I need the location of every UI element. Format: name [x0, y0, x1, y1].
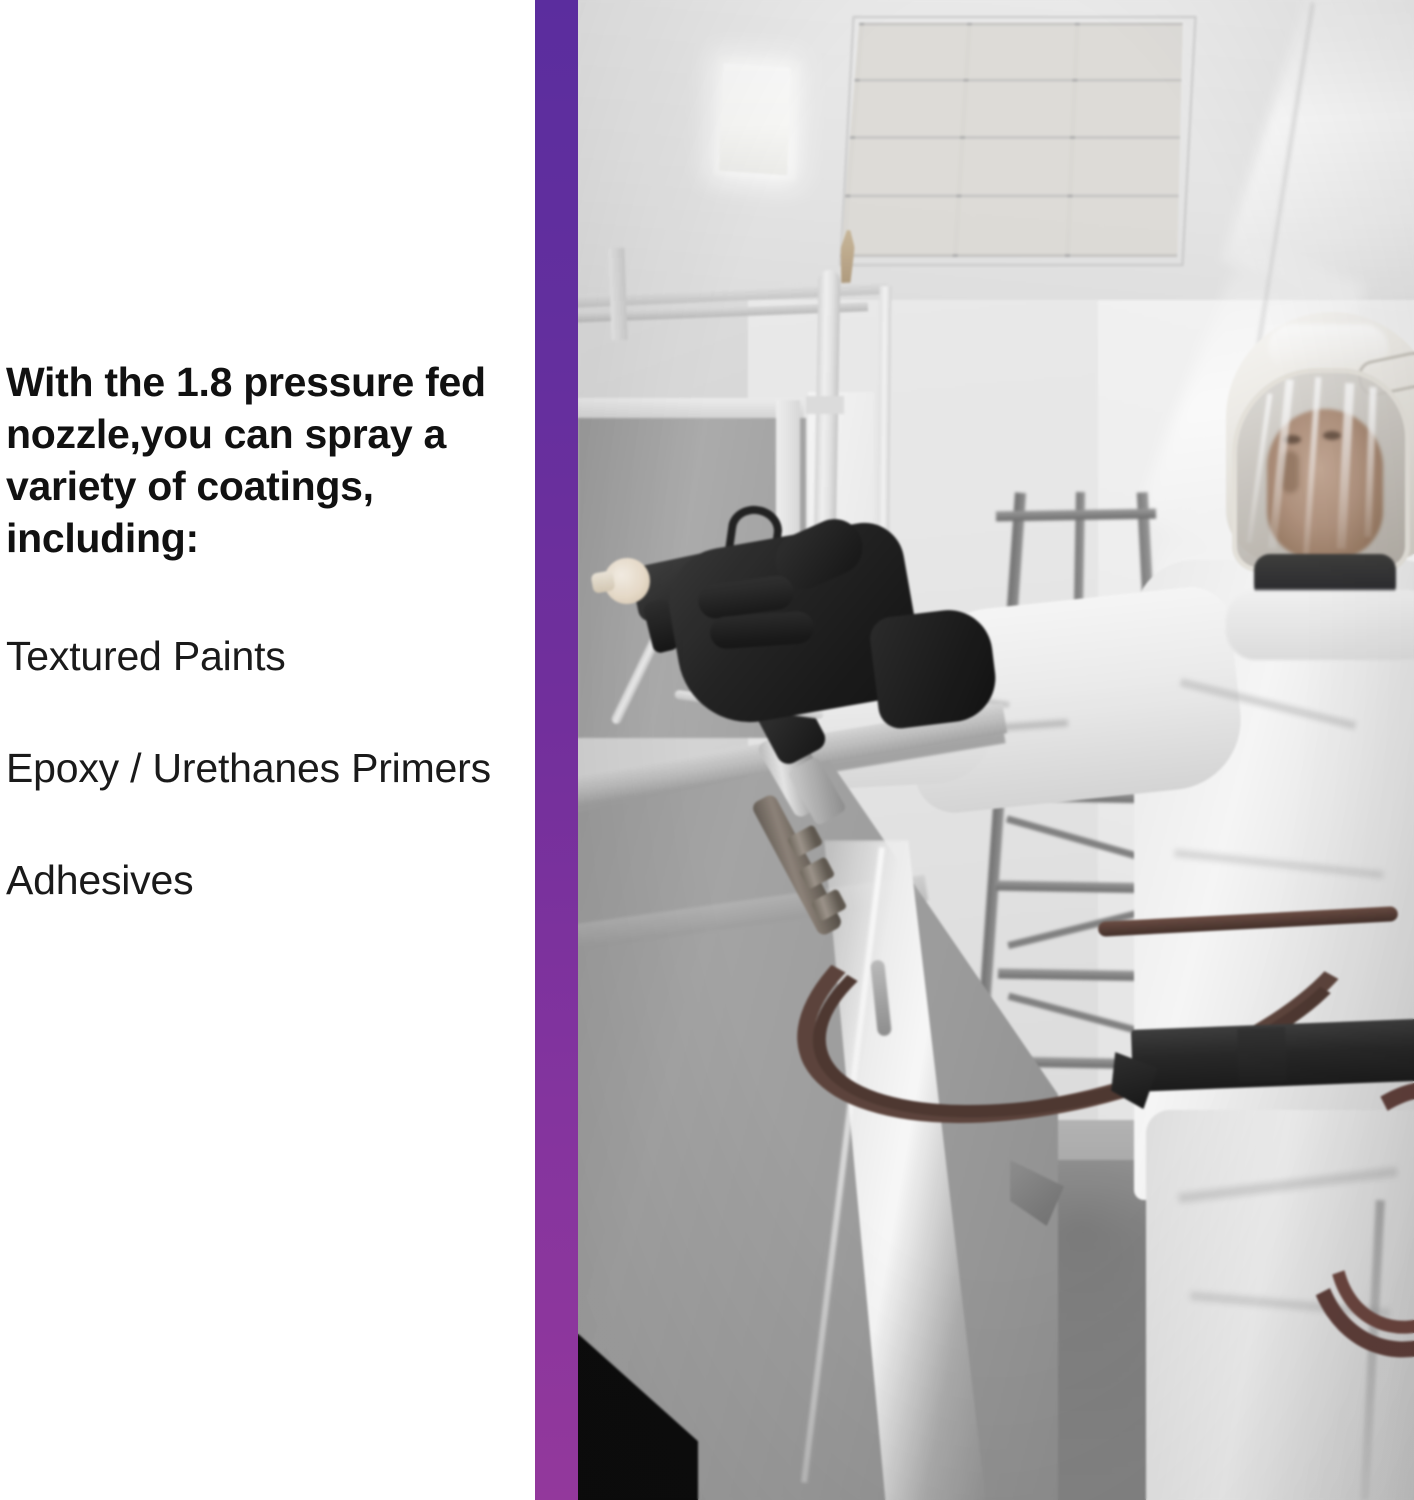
- list-item: Textured Paints: [6, 630, 506, 682]
- face-shield-visor: [1232, 368, 1410, 572]
- pipe-bracket: [806, 396, 844, 414]
- ceiling-light-fixture: [719, 63, 791, 175]
- page-title: With the 1.8 pressure fed nozzle,you can…: [6, 356, 486, 564]
- ceiling-filter-grid: [840, 23, 1182, 258]
- gradient-divider-bar: [535, 0, 578, 1500]
- face-eye: [1323, 431, 1341, 440]
- beam-post: [608, 248, 627, 341]
- spacer: [6, 564, 506, 630]
- coating-list: Textured Paints Epoxy / Urethanes Primer…: [6, 630, 506, 906]
- door-header: [578, 398, 804, 420]
- list-item: Epoxy / Urethanes Primers: [6, 742, 506, 794]
- spacer: [6, 682, 506, 742]
- spacer: [6, 794, 506, 854]
- hood-collar: [1226, 590, 1414, 660]
- spray-booth-photo: [578, 0, 1414, 1500]
- spray-nozzle-tip: [590, 570, 615, 594]
- ladder-step: [996, 509, 1156, 522]
- list-item: Adhesives: [6, 854, 506, 906]
- text-stack: With the 1.8 pressure fed nozzle,you can…: [6, 356, 506, 906]
- marketing-slide: With the 1.8 pressure fed nozzle,you can…: [0, 0, 1414, 1500]
- belt-buckle: [1237, 1027, 1287, 1083]
- text-panel: With the 1.8 pressure fed nozzle,you can…: [0, 0, 535, 1500]
